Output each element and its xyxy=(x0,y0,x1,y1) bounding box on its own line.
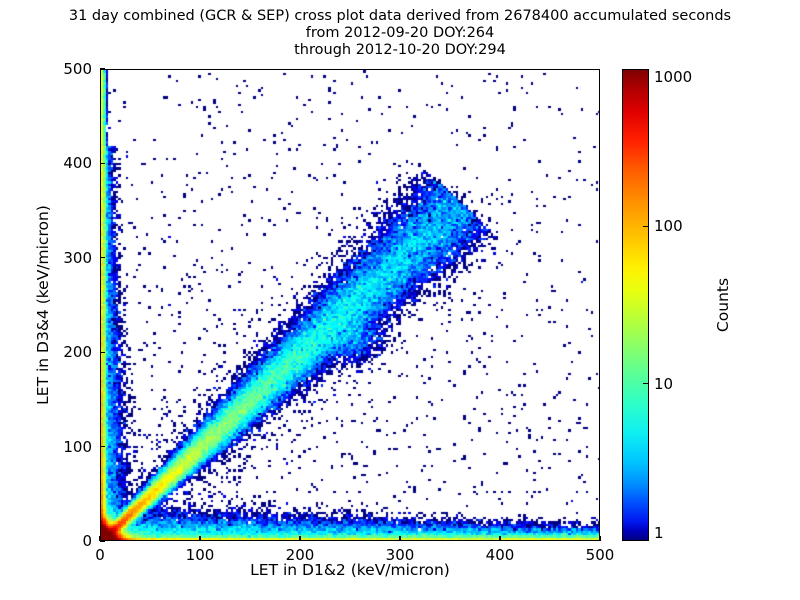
plot-area xyxy=(100,69,600,541)
figure-canvas: 31 day combined (GCR & SEP) cross plot d… xyxy=(0,0,800,600)
x-tick-mark xyxy=(399,536,400,541)
x-tick-mark xyxy=(599,536,600,541)
x-tick-mark xyxy=(499,536,500,541)
colorbar-label: Counts xyxy=(714,69,732,541)
y-tick-mark xyxy=(100,163,105,164)
y-tick-mark xyxy=(100,540,105,541)
colorbar-tick-label: 10 xyxy=(654,375,673,393)
colorbar-tick-label: 1 xyxy=(654,524,664,542)
x-axis-label: LET in D1&2 (keV/micron) xyxy=(100,561,600,579)
y-tick-mark xyxy=(100,352,105,353)
y-tick-mark xyxy=(100,68,105,69)
colorbar-tick-label: 1000 xyxy=(654,68,692,86)
scatter-density-plot xyxy=(101,70,600,541)
colorbar-tick-mark xyxy=(643,226,649,227)
y-tick-mark xyxy=(100,446,105,447)
title-line-3: through 2012-10-20 DOY:294 xyxy=(0,42,800,59)
y-tick-mark xyxy=(100,257,105,258)
colorbar-tick-mark xyxy=(643,383,649,384)
figure-title: 31 day combined (GCR & SEP) cross plot d… xyxy=(0,8,800,59)
x-tick-mark xyxy=(299,536,300,541)
x-tick-mark xyxy=(199,536,200,541)
title-line-1: 31 day combined (GCR & SEP) cross plot d… xyxy=(0,8,800,25)
colorbar-tick-label: 100 xyxy=(654,217,683,235)
title-line-2: from 2012-09-20 DOY:264 xyxy=(0,25,800,42)
y-axis-label: LET in D3&4 (keV/micron) xyxy=(34,69,52,541)
colorbar-gradient xyxy=(622,69,649,541)
